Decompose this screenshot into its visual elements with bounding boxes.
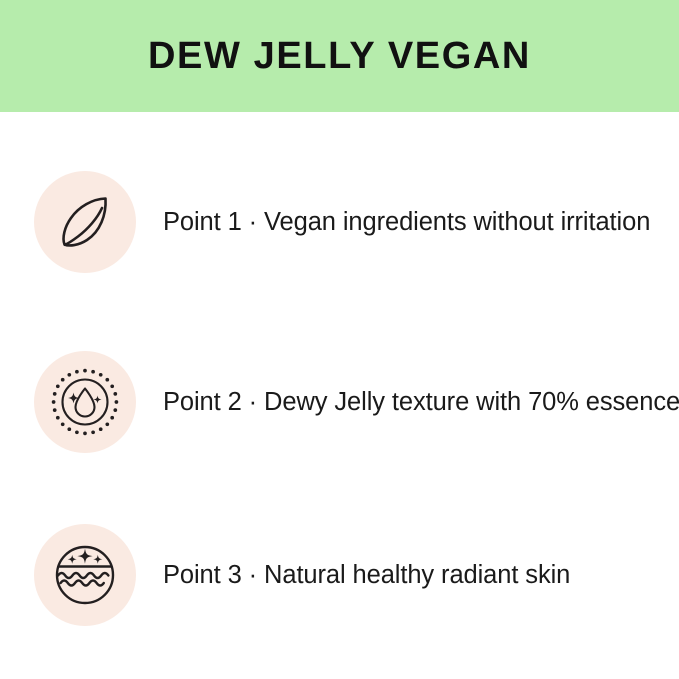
leaf-icon <box>50 187 120 257</box>
radiant-skin-icon <box>50 540 120 610</box>
feature-text: Point 2 · Dewy Jelly texture with 70% es… <box>163 387 679 418</box>
product-feature-panel: DEW JELLY VEGAN Point 1 · Vegan ingredie… <box>0 0 679 679</box>
feature-row: Point 1 · Vegan ingredients without irri… <box>0 171 679 273</box>
header-banner: DEW JELLY VEGAN <box>0 0 679 112</box>
leaf-icon-badge <box>34 171 136 273</box>
feature-text: Point 3 · Natural healthy radiant skin <box>163 560 679 591</box>
feature-list: Point 1 · Vegan ingredients without irri… <box>0 112 679 679</box>
feature-row: Point 2 · Dewy Jelly texture with 70% es… <box>0 351 679 453</box>
radiant-skin-icon-badge <box>34 524 136 626</box>
page-title: DEW JELLY VEGAN <box>148 37 531 75</box>
feature-row: Point 3 · Natural healthy radiant skin <box>0 524 679 626</box>
water-drop-icon-badge <box>34 351 136 453</box>
water-drop-sparkle-icon <box>49 366 121 438</box>
feature-text: Point 1 · Vegan ingredients without irri… <box>163 207 679 238</box>
